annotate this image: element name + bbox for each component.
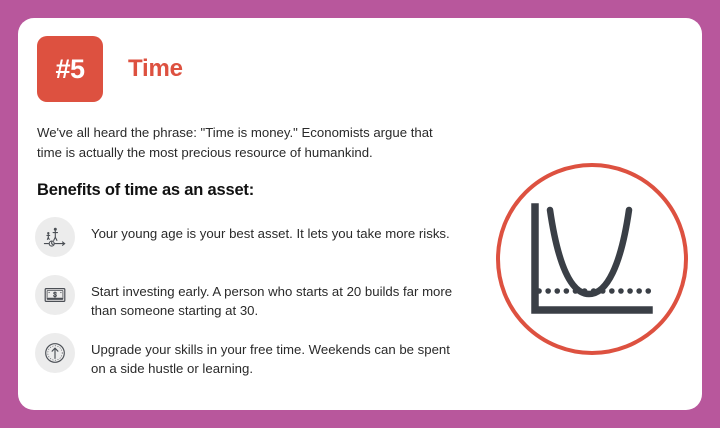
benefit-list: Your young age is your best asset. It le… xyxy=(35,215,480,389)
lead-paragraph: We've all heard the phrase: "Time is mon… xyxy=(37,123,457,163)
number-badge-label: #5 xyxy=(55,56,84,83)
banknote-icon xyxy=(35,275,75,315)
list-item: Your young age is your best asset. It le… xyxy=(35,215,480,273)
page-title: Time xyxy=(128,55,183,83)
list-item: Start investing early. A person who star… xyxy=(35,273,480,331)
content-card: #5 Time We've all heard the phrase: "Tim… xyxy=(18,18,702,410)
list-item-text: Start investing early. A person who star… xyxy=(91,273,466,320)
aging-person-timeline-icon xyxy=(35,217,75,257)
slide: #5 Time We've all heard the phrase: "Tim… xyxy=(0,0,720,428)
card-header: #5 Time xyxy=(37,36,183,102)
illustration xyxy=(496,163,688,355)
list-item-text: Your young age is your best asset. It le… xyxy=(91,215,450,243)
parabola-chart-icon xyxy=(527,203,657,318)
list-item: Upgrade your skills in your free time. W… xyxy=(35,331,480,389)
clock-arrow-up-icon xyxy=(35,333,75,373)
section-title: Benefits of time as an asset: xyxy=(37,181,254,200)
number-badge: #5 xyxy=(37,36,103,102)
list-item-text: Upgrade your skills in your free time. W… xyxy=(91,331,466,378)
